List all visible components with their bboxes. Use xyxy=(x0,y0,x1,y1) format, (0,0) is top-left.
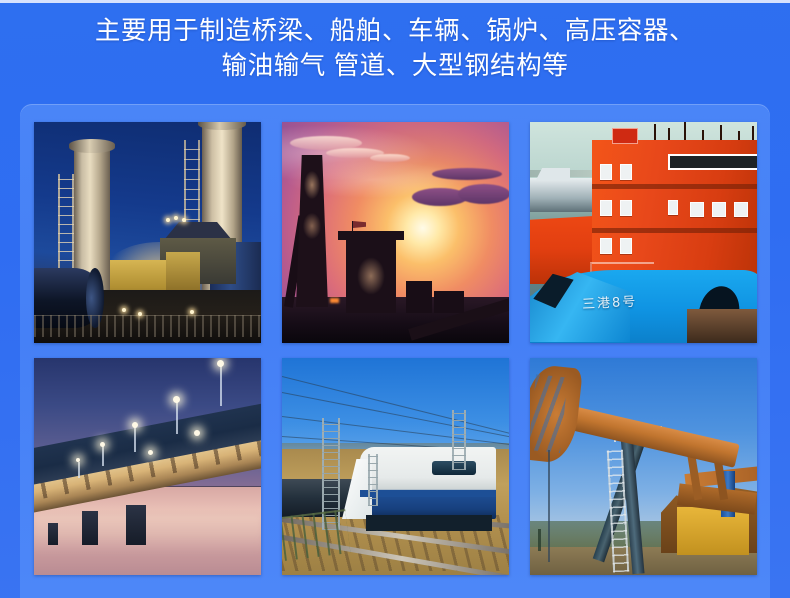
bridge-pier-2 xyxy=(126,505,146,545)
flag-on-mast xyxy=(352,221,353,237)
ground-light-3 xyxy=(190,310,194,314)
lamp-light-4 xyxy=(100,442,105,447)
cabin-window-7 xyxy=(690,202,704,217)
foreground-railing xyxy=(34,315,261,337)
railway-scene xyxy=(282,358,509,575)
cloud-dark-3 xyxy=(432,168,502,180)
headframe-short xyxy=(346,239,396,313)
bridge-window-band xyxy=(668,154,757,170)
yellow-skid-unit xyxy=(677,507,749,555)
lineside-fence xyxy=(282,509,350,561)
tile-train[interactable]: 车辆 — electric locomotive on catenary rai… xyxy=(282,358,509,575)
lamp-light-5 xyxy=(76,458,80,462)
tile-bridge[interactable]: 桥梁 — illuminated highway bridge at dusk … xyxy=(34,358,261,575)
application-image-grid: 锅炉/电厂 — power plant with tall stacks at … xyxy=(34,122,762,575)
cabin-window-8 xyxy=(712,202,726,217)
bridge-red-sign xyxy=(612,128,638,144)
application-banner: 主要用于制造桥梁、船舶、车辆、锅炉、高压容器、 输油输气 管道、大型钢结构等 xyxy=(0,0,790,598)
tile-power-plant[interactable]: 锅炉/电厂 — power plant with tall stacks at … xyxy=(34,122,261,343)
cabin-window-3 xyxy=(600,200,612,216)
deck-light-1 xyxy=(194,430,200,436)
tile-mine-sunset[interactable]: 大型钢结构 — mining headframe silhouettes aga… xyxy=(282,122,509,343)
lamppost-4 xyxy=(102,446,104,466)
cabin-window-4 xyxy=(620,200,632,216)
lamppost-3 xyxy=(134,426,136,452)
water-reflection xyxy=(34,515,261,575)
catenary-pylon-mid xyxy=(368,454,378,506)
oilfield-scene xyxy=(530,358,757,575)
top-hairline-divider xyxy=(0,0,790,3)
ground-light-1 xyxy=(122,308,126,312)
locomotive-blue-stripe xyxy=(360,490,496,497)
floodlight-1 xyxy=(166,218,170,222)
locomotive-bogies xyxy=(366,515,492,531)
locomotive-body xyxy=(360,447,496,519)
plant-box-1 xyxy=(406,281,432,313)
bridge-pier-1 xyxy=(82,511,98,545)
bridle-wireline xyxy=(548,450,550,562)
lamppost-2 xyxy=(176,400,178,434)
bridge-pier-3 xyxy=(48,523,58,545)
mining-sunset-scene xyxy=(282,122,509,343)
bridge-scene xyxy=(34,358,261,575)
power-plant-scene xyxy=(34,122,261,343)
catenary-pylon-right xyxy=(452,410,466,470)
dockside-clutter xyxy=(687,309,757,343)
ground-light-2 xyxy=(138,312,142,316)
headframe-short-opening xyxy=(357,257,385,295)
deck-line-2 xyxy=(592,228,757,233)
cabin-window-2 xyxy=(620,164,632,180)
ember-glow xyxy=(330,298,339,303)
headframe-short-top xyxy=(338,231,404,240)
lit-structure-b xyxy=(166,252,200,292)
ship-scene: 三港8号 xyxy=(530,122,757,343)
lamp-light-1 xyxy=(217,360,224,367)
deck-line-1 xyxy=(592,184,757,189)
tile-pumpjack[interactable]: 输油输气管道 — oil pumpjack at well site xyxy=(530,358,757,575)
lamp-light-3 xyxy=(132,422,138,428)
cabin-window-6 xyxy=(620,238,632,254)
cloud-dark-2 xyxy=(458,184,509,204)
marker-post xyxy=(538,529,541,551)
cabin-window-1 xyxy=(600,164,612,180)
ship-name-marking: 三港8号 xyxy=(582,291,638,313)
lamppost-1 xyxy=(220,364,222,406)
cabin-window-10 xyxy=(668,200,678,215)
lamp-light-2 xyxy=(173,396,180,403)
plant-box-2 xyxy=(434,291,464,313)
cloud-light-3 xyxy=(370,154,410,162)
page-title: 主要用于制造桥梁、船舶、车辆、锅炉、高压容器、 输油输气 管道、大型钢结构等 xyxy=(0,14,790,84)
deck-light-2 xyxy=(148,450,153,455)
floodlight-3 xyxy=(182,218,186,222)
cabin-window-9 xyxy=(734,202,748,217)
cabin-window-5 xyxy=(600,238,612,254)
floodlight-2 xyxy=(174,216,178,220)
lamppost-5 xyxy=(78,462,80,478)
tile-ship[interactable]: 三港8号 船舶 — cargo ship with red superstruc… xyxy=(530,122,757,343)
